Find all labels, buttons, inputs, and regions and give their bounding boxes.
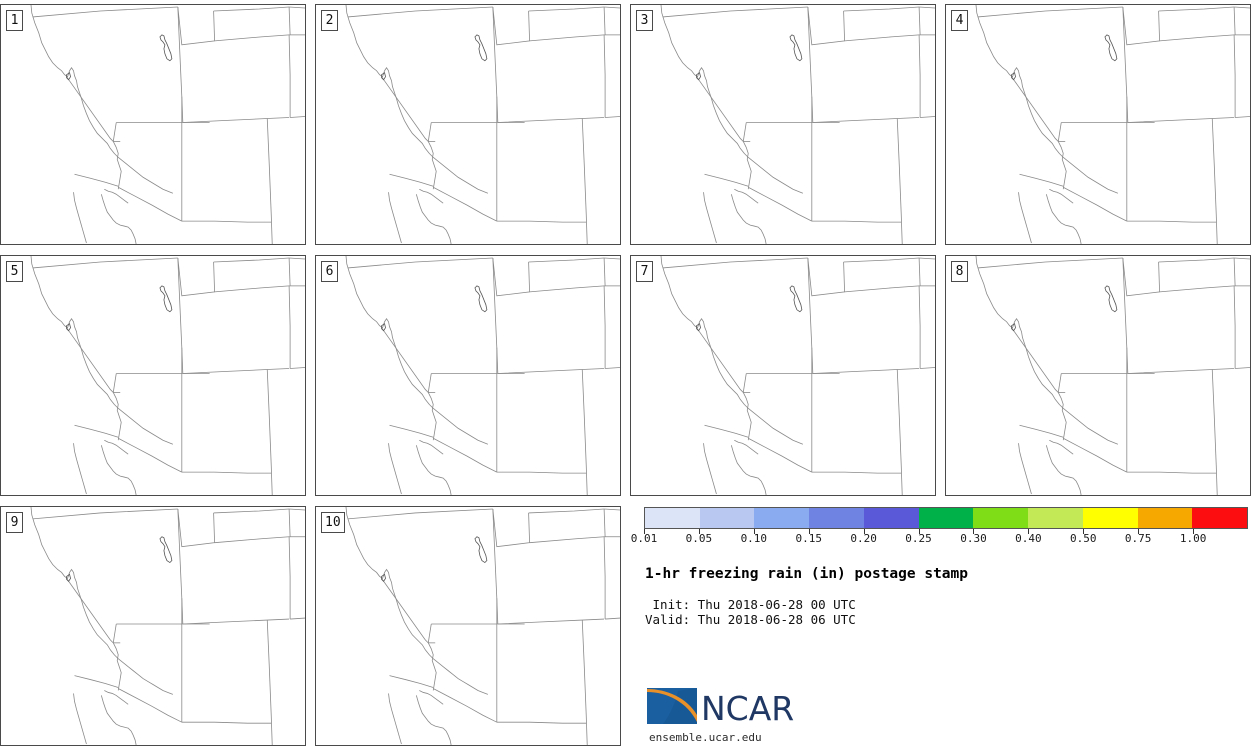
ensemble-member-panel-6[interactable]: 6: [315, 255, 621, 496]
colorbar-segment-0.20-0.25: [864, 508, 919, 528]
panel-number-badge: 9: [6, 512, 23, 533]
legend-info-block: 0.010.050.100.150.200.250.300.400.500.75…: [630, 500, 1256, 746]
state-boundaries-map: [1, 256, 305, 495]
panel-number-badge: 10: [321, 512, 345, 533]
colorbar-tick-label-1.00: 1.00: [1180, 532, 1207, 546]
ensemble-member-panel-7[interactable]: 7: [630, 255, 936, 496]
panel-number-badge: 4: [951, 10, 968, 31]
colorbar-segment-0.75-1.00: [1138, 508, 1193, 528]
ensemble-member-panel-3[interactable]: 3: [630, 4, 936, 245]
state-boundaries-map: [946, 256, 1250, 495]
colorbar-segment-0.01-0.05: [645, 508, 700, 528]
panel-number-badge: 1: [6, 10, 23, 31]
panel-number-badge: 7: [636, 261, 653, 282]
state-boundaries-map: [631, 5, 935, 244]
ncar-url-label: ensemble.ucar.edu: [649, 731, 762, 744]
panel-number-badge: 2: [321, 10, 338, 31]
colorbar-tick-label-0.20: 0.20: [850, 532, 877, 546]
panel-number-badge: 8: [951, 261, 968, 282]
colorbar-tick-label-0.10: 0.10: [741, 532, 768, 546]
ncar-logo: NCAR: [645, 682, 875, 726]
colorbar-tick-labels: 0.010.050.100.150.200.250.300.400.500.75…: [644, 532, 1248, 546]
state-boundaries-map: [631, 256, 935, 495]
panel-number-badge: 3: [636, 10, 653, 31]
ensemble-member-panel-4[interactable]: 4: [945, 4, 1251, 245]
colorbar-tick-label-0.05: 0.05: [686, 532, 713, 546]
ensemble-member-panel-8[interactable]: 8: [945, 255, 1251, 496]
valid-time-label: Valid: Thu 2018-06-28 06 UTC: [645, 612, 856, 627]
colorbar-tick-label-0.40: 0.40: [1015, 532, 1042, 546]
page-title: 1-hr freezing rain (in) postage stamp: [645, 566, 968, 582]
colorbar-tick-label-0.30: 0.30: [960, 532, 987, 546]
colorbar-segment-0.10-0.15: [754, 508, 809, 528]
init-time-label: Init: Thu 2018-06-28 00 UTC: [645, 597, 856, 612]
colorbar-segment-0.50-0.75: [1083, 508, 1138, 528]
colorbar-segment-0.30-0.40: [973, 508, 1028, 528]
ensemble-member-panel-1[interactable]: 1: [0, 4, 306, 245]
colorbar-tick-label-0.15: 0.15: [795, 532, 822, 546]
state-boundaries-map: [946, 5, 1250, 244]
state-boundaries-map: [1, 507, 305, 745]
colorbar-tick-label-0.01: 0.01: [631, 532, 658, 546]
ensemble-member-panel-5[interactable]: 5: [0, 255, 306, 496]
colorbar-tick-label-0.25: 0.25: [905, 532, 932, 546]
colorbar-tick-label-0.50: 0.50: [1070, 532, 1097, 546]
ensemble-member-panel-9[interactable]: 9: [0, 506, 306, 746]
colorbar-segment-0.40-0.50: [1028, 508, 1083, 528]
state-boundaries-map: [316, 5, 620, 244]
panel-number-badge: 6: [321, 261, 338, 282]
ncar-wordmark: NCAR: [701, 689, 794, 726]
panel-number-badge: 5: [6, 261, 23, 282]
ensemble-member-panel-10[interactable]: 10: [315, 506, 621, 746]
state-boundaries-map: [1, 5, 305, 244]
state-boundaries-map: [316, 507, 620, 745]
colorbar-segment->1.00: [1192, 508, 1247, 528]
ensemble-member-panel-2[interactable]: 2: [315, 4, 621, 245]
colorbar-segment-0.25-0.30: [919, 508, 974, 528]
colorbar-tick-label-0.75: 0.75: [1125, 532, 1152, 546]
colorbar-segment-0.05-0.10: [700, 508, 755, 528]
colorbar: [644, 507, 1248, 529]
colorbar-segment-0.15-0.20: [809, 508, 864, 528]
state-boundaries-map: [316, 256, 620, 495]
